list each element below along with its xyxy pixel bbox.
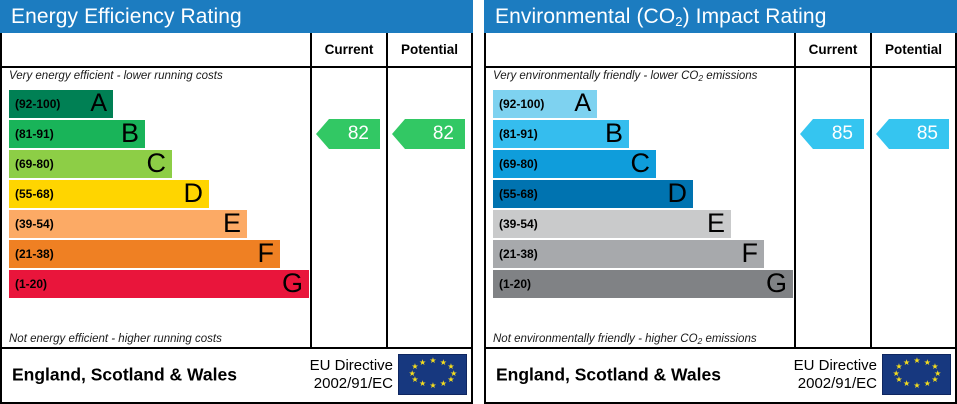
- band-letter-label: C: [631, 150, 651, 177]
- table-footer-row: England, Scotland & Wales EU Directive 2…: [2, 349, 471, 400]
- caption-top: Very environmentally friendly - lower CO…: [493, 70, 757, 82]
- band-d: (55-68) D: [9, 180, 209, 208]
- current-rating-value: 82: [348, 123, 369, 145]
- band-g: (1-20) G: [9, 270, 309, 298]
- rating-bands: (92-100) A (81-91) B (69-80) C (55-68) D: [9, 90, 309, 300]
- caption-top: Very energy efficient - lower running co…: [9, 70, 223, 82]
- table-body-row: Very environmentally friendly - lower CO…: [486, 68, 955, 349]
- column-divider-current: [310, 68, 312, 347]
- band-b: (81-91) B: [493, 120, 629, 148]
- rating-bands: (92-100) A (81-91) B (69-80) C (55-68) D: [493, 90, 793, 300]
- caption-bottom-text: Not environmentally friendly - higher CO: [493, 333, 698, 345]
- current-rating-arrow: 82: [316, 119, 380, 149]
- potential-rating-value: 85: [917, 123, 938, 145]
- energy-efficiency-rating-panel: Energy Efficiency Rating Current Potenti…: [0, 0, 473, 404]
- band-a: (92-100) A: [9, 90, 113, 118]
- panel-title-suffix: ) Impact Rating: [683, 5, 827, 28]
- eu-flag-icon: ★★★★★★★★★★★★: [882, 354, 951, 395]
- band-range-label: (21-38): [493, 247, 538, 261]
- rating-table: Current Potential Very energy efficient …: [0, 33, 473, 404]
- band-f: (21-38) F: [9, 240, 280, 268]
- band-d: (55-68) D: [493, 180, 693, 208]
- header-cell-blank: [486, 33, 794, 66]
- caption-bottom-subscript: 2: [698, 336, 703, 346]
- panel-title: Environmental (CO2) Impact Rating: [484, 0, 957, 33]
- band-c: (69-80) C: [493, 150, 656, 178]
- eu-directive-line1: EU Directive: [794, 357, 877, 375]
- caption-top-subscript: 2: [698, 73, 703, 83]
- header-cell-potential: Potential: [870, 33, 955, 66]
- caption-top-text: Very energy efficient - lower running co…: [9, 70, 223, 82]
- eu-flag-icon: ★★★★★★★★★★★★: [398, 354, 467, 395]
- band-range-label: (69-80): [493, 157, 538, 171]
- eu-directive-label: EU Directive 2002/91/EC: [310, 357, 393, 393]
- band-range-label: (92-100): [9, 97, 60, 111]
- band-range-label: (81-91): [493, 127, 538, 141]
- band-range-label: (55-68): [9, 187, 54, 201]
- panel-title-text: Energy Efficiency Rating: [11, 5, 242, 28]
- header-cell-potential: Potential: [386, 33, 471, 66]
- band-b: (81-91) B: [9, 120, 145, 148]
- band-a: (92-100) A: [493, 90, 597, 118]
- band-letter-label: G: [766, 270, 787, 297]
- band-letter-label: D: [184, 180, 204, 207]
- band-letter-label: B: [605, 120, 623, 147]
- table-header-row: Current Potential: [486, 33, 955, 68]
- region-label: England, Scotland & Wales: [12, 364, 237, 385]
- table-footer-row: England, Scotland & Wales EU Directive 2…: [486, 349, 955, 400]
- band-range-label: (21-38): [9, 247, 54, 261]
- table-header-row: Current Potential: [2, 33, 471, 68]
- band-range-label: (92-100): [493, 97, 544, 111]
- eu-directive-line2: 2002/91/EC: [794, 375, 877, 393]
- band-range-label: (39-54): [9, 217, 54, 231]
- column-divider-potential: [870, 68, 872, 347]
- rating-table: Current Potential Very environmentally f…: [484, 33, 957, 404]
- header-cell-current: Current: [794, 33, 870, 66]
- band-letter-label: D: [668, 180, 688, 207]
- panel-title-subscript: 2: [675, 14, 682, 29]
- column-divider-current: [794, 68, 796, 347]
- band-e: (39-54) E: [9, 210, 247, 238]
- header-cell-blank: [2, 33, 310, 66]
- current-rating-value: 85: [832, 123, 853, 145]
- caption-bottom-suffix: emissions: [702, 333, 756, 345]
- caption-top-suffix: emissions: [703, 70, 757, 82]
- caption-bottom-text: Not energy efficient - higher running co…: [9, 333, 222, 345]
- band-letter-label: F: [742, 240, 759, 267]
- caption-bottom: Not environmentally friendly - higher CO…: [493, 333, 757, 345]
- header-cell-current: Current: [310, 33, 386, 66]
- region-label: England, Scotland & Wales: [496, 364, 721, 385]
- band-letter-label: B: [121, 120, 139, 147]
- eu-directive-line2: 2002/91/EC: [310, 375, 393, 393]
- panel-title-text: Environmental (CO: [495, 5, 675, 28]
- panel-title: Energy Efficiency Rating: [0, 0, 473, 33]
- band-letter-label: A: [574, 91, 591, 116]
- potential-rating-arrow: 82: [392, 119, 465, 149]
- band-letter-label: A: [90, 91, 107, 116]
- band-range-label: (69-80): [9, 157, 54, 171]
- band-letter-label: E: [707, 210, 725, 237]
- band-e: (39-54) E: [493, 210, 731, 238]
- band-f: (21-38) F: [493, 240, 764, 268]
- band-letter-label: E: [223, 210, 241, 237]
- band-c: (69-80) C: [9, 150, 172, 178]
- eu-directive-line1: EU Directive: [310, 357, 393, 375]
- environmental-co2-impact-rating-panel: Environmental (CO2) Impact Rating Curren…: [484, 0, 957, 404]
- epc-charts-page: Energy Efficiency Rating Current Potenti…: [0, 0, 957, 404]
- eu-directive-label: EU Directive 2002/91/EC: [794, 357, 877, 393]
- band-range-label: (55-68): [493, 187, 538, 201]
- potential-rating-value: 82: [433, 123, 454, 145]
- caption-bottom: Not energy efficient - higher running co…: [9, 333, 222, 345]
- band-g: (1-20) G: [493, 270, 793, 298]
- table-body-row: Very energy efficient - lower running co…: [2, 68, 471, 349]
- band-letter-label: F: [258, 240, 275, 267]
- band-range-label: (39-54): [493, 217, 538, 231]
- band-range-label: (1-20): [493, 277, 531, 291]
- band-letter-label: G: [282, 270, 303, 297]
- band-letter-label: C: [147, 150, 167, 177]
- caption-top-text: Very environmentally friendly - lower CO: [493, 70, 698, 82]
- band-range-label: (81-91): [9, 127, 54, 141]
- current-rating-arrow: 85: [800, 119, 864, 149]
- potential-rating-arrow: 85: [876, 119, 949, 149]
- band-range-label: (1-20): [9, 277, 47, 291]
- column-divider-potential: [386, 68, 388, 347]
